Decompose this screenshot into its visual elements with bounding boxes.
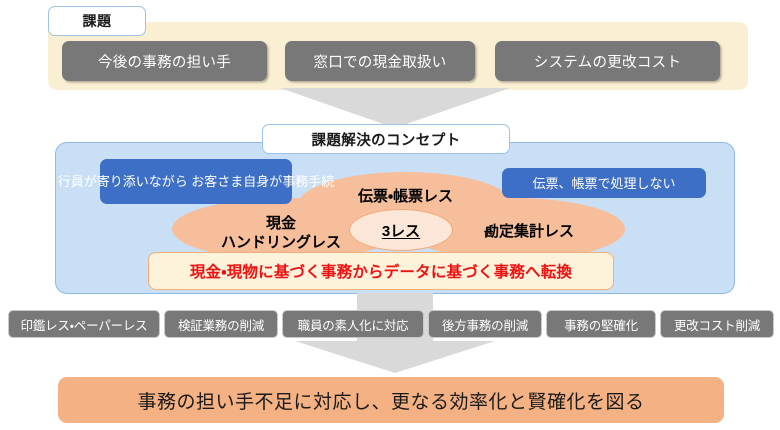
arrow-down-icon-top xyxy=(280,88,510,128)
effect-chip-5[interactable]: 更改コスト削減 xyxy=(660,310,774,338)
conclusion-banner: 事務の担い手不足に対応し、更なる効率化と賢確化を図る xyxy=(58,377,724,423)
transform-banner-text: 現金・現物に基づく事務からデータに基づく事務へ転換 xyxy=(190,260,572,282)
issues-section-label: 課題 xyxy=(48,6,146,36)
effect-chip-4[interactable]: 事務の堅確化 xyxy=(546,310,656,338)
venn-ellipse-slip-ledger-less-label: 伝票・帳票レス xyxy=(358,187,453,206)
effect-chip-4-label: 事務の堅確化 xyxy=(564,315,638,334)
effect-chip-1[interactable]: 検証業務の削減 xyxy=(164,310,278,338)
conclusion-banner-text: 事務の担い手不足に対応し、更なる効率化と賢確化を図る xyxy=(137,387,644,414)
effect-chip-5-label: 更改コスト削減 xyxy=(674,315,760,334)
venn-ellipse-account-aggregation-less-label: 勘定集計レス xyxy=(484,222,574,241)
concept-title-text: 課題解決のコンセプト xyxy=(312,129,461,150)
concept-blue-tag-1[interactable]: 伝票、帳票で処理しない xyxy=(502,168,706,198)
venn-center-label-text: 3レス xyxy=(382,220,420,241)
issue-card-2-label: システムの更改コスト xyxy=(534,51,682,72)
effect-chip-3-label: 後方事務の削減 xyxy=(442,315,528,334)
transform-banner: 現金・現物に基づく事務からデータに基づく事務へ転換 xyxy=(148,252,614,290)
effect-chip-1-label: 検証業務の削減 xyxy=(178,315,264,334)
effect-chip-0-label: 印鑑レス・ペーパーレス xyxy=(21,315,148,334)
concept-blue-tag-1-label: 伝票、帳票で処理しない xyxy=(532,175,675,192)
concept-blue-tag-0[interactable]: 行員が寄り添いながら お客さま自身が事務手続 xyxy=(100,159,292,204)
venn-center-label[interactable]: 3レス xyxy=(349,209,453,251)
issue-card-0-label: 今後の事務の担い手 xyxy=(98,51,231,72)
issue-card-1-label: 窓口での現金取扱い xyxy=(313,51,446,72)
effect-chip-2-label: 職員の素人化に対応 xyxy=(298,315,409,334)
concept-title-box: 課題解決のコンセプト xyxy=(262,124,510,154)
issue-card-0[interactable]: 今後の事務の担い手 xyxy=(62,41,267,81)
effect-chip-2[interactable]: 職員の素人化に対応 xyxy=(282,310,424,338)
effect-chip-0[interactable]: 印鑑レス・ペーパーレス xyxy=(8,310,160,338)
issues-section-label-text: 課題 xyxy=(83,11,112,31)
issue-card-2[interactable]: システムの更改コスト xyxy=(495,41,720,81)
effect-chip-3[interactable]: 後方事務の削減 xyxy=(428,310,542,338)
concept-blue-tag-0-label: 行員が寄り添いながら お客さま自身が事務手続 xyxy=(58,173,335,190)
issue-card-1[interactable]: 窓口での現金取扱い xyxy=(285,41,475,81)
